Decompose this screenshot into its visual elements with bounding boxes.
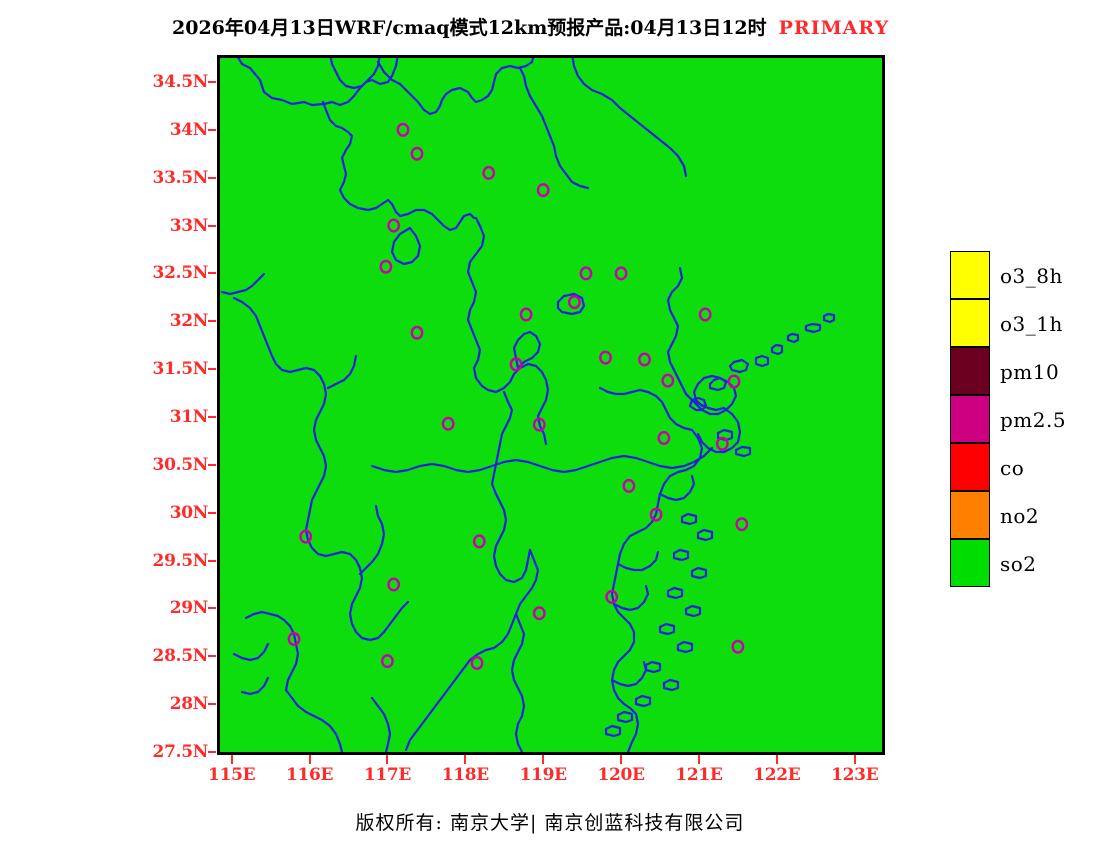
y-axis-tick bbox=[208, 320, 216, 322]
x-axis-tick-label: 121E bbox=[659, 765, 739, 785]
x-axis-tick bbox=[309, 755, 311, 764]
y-axis-tick-label: 28.5N bbox=[140, 646, 208, 666]
legend-item-label: co bbox=[1000, 456, 1024, 480]
x-axis-tick-label: 123E bbox=[815, 765, 895, 785]
y-axis-tick bbox=[208, 177, 216, 179]
x-axis-tick bbox=[542, 755, 544, 764]
y-axis-tick-label: 30.5N bbox=[140, 455, 208, 475]
x-axis-tick bbox=[698, 755, 700, 764]
x-axis-tick-label: 122E bbox=[737, 765, 817, 785]
y-axis-tick bbox=[208, 560, 216, 562]
y-axis-tick bbox=[208, 225, 216, 227]
map-canvas bbox=[220, 58, 882, 752]
map-field-fill bbox=[220, 58, 882, 752]
map-plot-area[interactable] bbox=[217, 55, 885, 755]
x-axis-tick bbox=[231, 755, 233, 764]
y-axis-tick bbox=[208, 464, 216, 466]
y-axis-tick-label: 34N bbox=[140, 120, 208, 140]
y-axis-tick bbox=[208, 129, 216, 131]
y-axis-tick bbox=[208, 81, 216, 83]
y-axis-tick-label: 32.5N bbox=[140, 263, 208, 283]
y-axis-tick-label: 29N bbox=[140, 598, 208, 618]
y-axis-tick-label: 27.5N bbox=[140, 742, 208, 762]
y-axis-tick-label: 32N bbox=[140, 311, 208, 331]
y-axis-tick bbox=[208, 512, 216, 514]
legend-item-label: pm10 bbox=[1000, 360, 1059, 384]
y-axis-tick-label: 33N bbox=[140, 216, 208, 236]
y-axis-tick-label: 30N bbox=[140, 503, 208, 523]
y-axis-tick bbox=[208, 703, 216, 705]
y-axis-tick-label: 31N bbox=[140, 407, 208, 427]
x-axis-tick bbox=[776, 755, 778, 764]
x-axis-tick-label: 119E bbox=[503, 765, 583, 785]
copyright-footer: 版权所有: 南京大学| 南京创蓝科技有限公司 bbox=[0, 808, 1100, 835]
y-axis-tick bbox=[208, 416, 216, 418]
y-axis-tick bbox=[208, 368, 216, 370]
legend-color-swatch[interactable] bbox=[950, 395, 990, 443]
legend-color-swatch[interactable] bbox=[950, 347, 990, 395]
x-axis-tick-label: 120E bbox=[581, 765, 661, 785]
legend-color-swatch[interactable] bbox=[950, 491, 990, 539]
y-axis-tick bbox=[208, 272, 216, 274]
y-axis-tick-label: 28N bbox=[140, 694, 208, 714]
y-axis-tick-label: 31.5N bbox=[140, 359, 208, 379]
y-axis-tick-label: 29.5N bbox=[140, 551, 208, 571]
legend-color-swatch[interactable] bbox=[950, 443, 990, 491]
legend-color-swatch[interactable] bbox=[950, 299, 990, 347]
x-axis-tick bbox=[464, 755, 466, 764]
legend-color-swatch[interactable] bbox=[950, 539, 990, 587]
page-title: 2026年04月13日WRF/cmaq模式12km预报产品:04月13日12时 bbox=[172, 17, 767, 39]
x-axis-tick bbox=[854, 755, 856, 764]
legend-item-label: o3_1h bbox=[1000, 312, 1063, 336]
legend-item-label: no2 bbox=[1000, 504, 1039, 528]
x-axis-tick-label: 118E bbox=[425, 765, 505, 785]
y-axis-tick-label: 34.5N bbox=[140, 72, 208, 92]
x-axis-tick-label: 117E bbox=[347, 765, 427, 785]
legend-item-label: so2 bbox=[1000, 552, 1037, 576]
legend-color-swatch[interactable] bbox=[950, 251, 990, 299]
title-primary-tag: PRIMARY bbox=[767, 17, 890, 39]
y-axis-tick bbox=[208, 607, 216, 609]
x-axis-tick bbox=[386, 755, 388, 764]
x-axis-tick-label: 116E bbox=[270, 765, 350, 785]
y-axis-tick bbox=[208, 655, 216, 657]
x-axis-tick bbox=[620, 755, 622, 764]
legend-item-label: o3_8h bbox=[1000, 264, 1063, 288]
x-axis-tick-label: 115E bbox=[192, 765, 272, 785]
y-axis-tick bbox=[208, 751, 216, 753]
y-axis-tick-label: 33.5N bbox=[140, 168, 208, 188]
legend-item-label: pm2.5 bbox=[1000, 408, 1066, 432]
